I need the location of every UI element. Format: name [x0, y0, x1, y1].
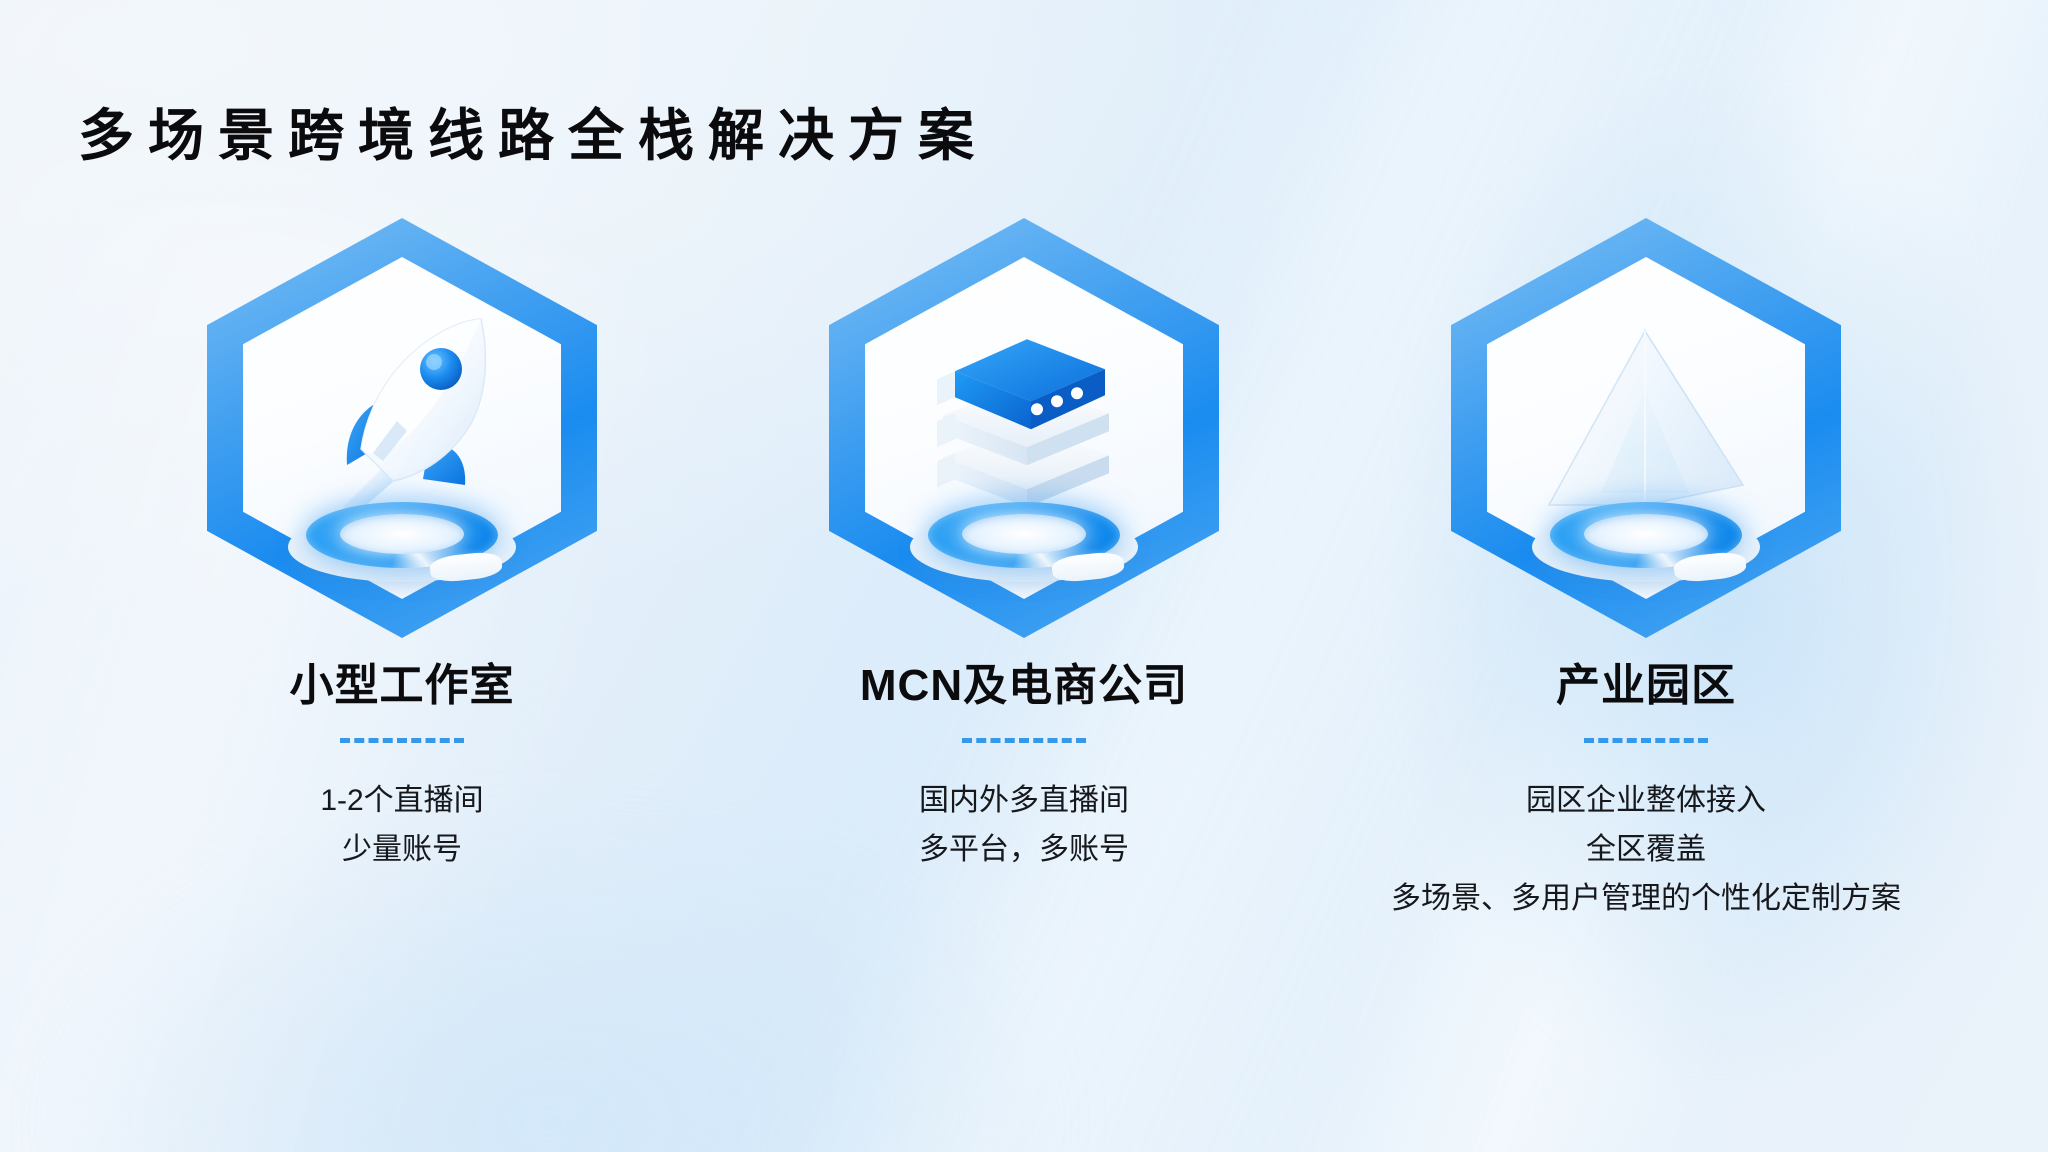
base-hole [1584, 514, 1708, 554]
card-body-line: 多平台，多账号 [919, 826, 1129, 875]
card-body-line: 多场景、多用户管理的个性化定制方案 [1391, 875, 1901, 924]
scenario-card-small-studio[interactable]: 小型工作室 1-2个直播间 少量账号 [167, 218, 637, 923]
scenario-card-mcn-ecommerce[interactable]: MCN及电商公司 国内外多直播间 多平台，多账号 [789, 218, 1259, 923]
hexagon-illustration-server-stack [829, 218, 1219, 638]
hexagon-illustration-rocket [207, 218, 597, 638]
base-hole [340, 514, 464, 554]
card-title: MCN及电商公司 [860, 662, 1188, 710]
glow-base-platform [296, 500, 508, 576]
glow-base-platform [1540, 500, 1752, 576]
card-body: 1-2个直播间 少量账号 [320, 777, 483, 874]
scenario-card-list: 小型工作室 1-2个直播间 少量账号 [0, 218, 2048, 923]
card-body-line: 国内外多直播间 [919, 777, 1129, 826]
card-body-line: 全区覆盖 [1391, 826, 1901, 875]
card-body-line: 1-2个直播间 [320, 777, 483, 826]
card-divider [1584, 738, 1708, 743]
server-stack-icon [909, 309, 1139, 529]
scenario-card-industrial-park[interactable]: 产业园区 园区企业整体接入 全区覆盖 多场景、多用户管理的个性化定制方案 [1411, 218, 1881, 923]
glow-base-platform [918, 500, 1130, 576]
card-title: 产业园区 [1556, 662, 1736, 710]
card-title: 小型工作室 [290, 662, 515, 710]
card-divider [340, 738, 464, 743]
base-hole [962, 514, 1086, 554]
card-divider [962, 738, 1086, 743]
card-body: 园区企业整体接入 全区覆盖 多场景、多用户管理的个性化定制方案 [1391, 777, 1901, 923]
hexagon-illustration-pyramid [1451, 218, 1841, 638]
page-title: 多场景跨境线路全栈解决方案 [78, 108, 988, 164]
card-body-line: 少量账号 [320, 826, 483, 875]
card-body: 国内外多直播间 多平台，多账号 [919, 777, 1129, 874]
card-body-line: 园区企业整体接入 [1391, 777, 1901, 826]
solution-scenarios-page: 多场景跨境线路全栈解决方案 [0, 0, 2048, 1152]
